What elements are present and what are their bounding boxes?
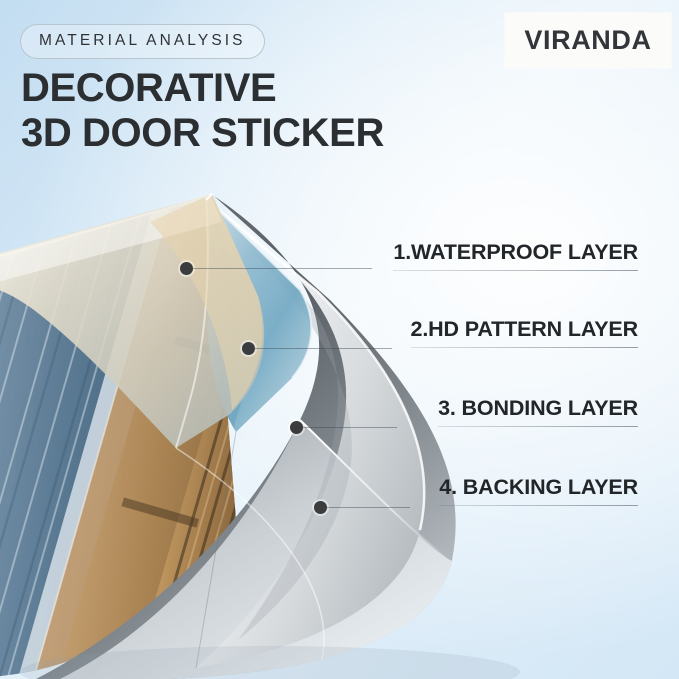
page-title-line-1: DECORATIVE	[21, 66, 276, 110]
callout-label-hd-pattern: 2.HD PATTERN LAYER	[411, 317, 638, 347]
poster-canvas: 1.WATERPROOF LAYER 2.HD PATTERN LAYER 3.…	[0, 0, 679, 679]
brand-name: VIRANDA	[524, 25, 651, 56]
callout-underline-hd-pattern	[411, 347, 638, 348]
material-analysis-badge: MATERIAL ANALYSIS	[20, 24, 265, 59]
callout-bonding-layer: 3. BONDING LAYER	[438, 396, 638, 427]
callout-underline-waterproof	[393, 270, 638, 271]
leader-rule-waterproof	[193, 268, 372, 269]
callout-backing-layer: 4. BACKING LAYER	[439, 475, 638, 506]
leader-rule-backing	[327, 507, 410, 508]
callout-underline-bonding	[438, 426, 638, 427]
callout-hd-pattern-layer: 2.HD PATTERN LAYER	[411, 317, 638, 348]
leader-dot-waterproof	[180, 262, 193, 275]
page-title-line-2: 3D DOOR STICKER	[21, 111, 384, 156]
leader-dot-backing	[314, 501, 327, 514]
page-title: DECORATIVE 3D DOOR STICKER	[21, 66, 384, 156]
leader-rule-hd-pattern	[255, 348, 392, 349]
callout-waterproof-layer: 1.WATERPROOF LAYER	[393, 240, 638, 271]
callout-underline-backing	[439, 505, 638, 506]
callout-label-bonding: 3. BONDING LAYER	[438, 396, 638, 426]
callout-label-backing: 4. BACKING LAYER	[439, 475, 638, 505]
leader-rule-bonding	[303, 427, 397, 428]
brand-logo-box: VIRANDA	[505, 13, 671, 68]
leader-dot-hd-pattern	[242, 342, 255, 355]
leader-dot-bonding	[290, 421, 303, 434]
callout-label-waterproof: 1.WATERPROOF LAYER	[393, 240, 638, 270]
